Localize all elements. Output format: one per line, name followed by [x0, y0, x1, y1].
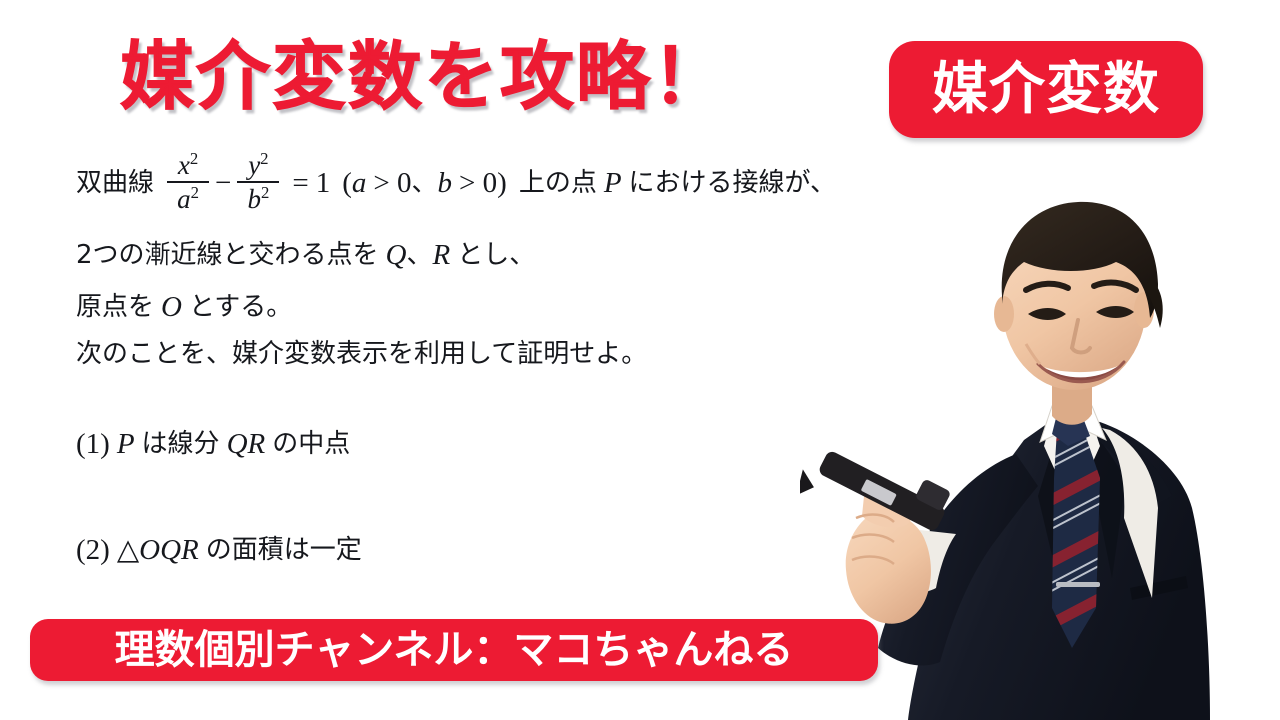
slide-canvas: 媒介変数を攻略！ 媒介変数 双曲線 x2 a2 − y2 b2 = 1	[0, 0, 1280, 720]
problem-line-2: 2つの漸近線と交わる点を Q 、 R とし、	[76, 240, 535, 270]
cond-b-relation: > 0	[459, 168, 497, 198]
problem-line-3: 原点を O とする。	[76, 292, 292, 322]
line2-post: とし、	[457, 242, 535, 269]
point-p: P	[604, 168, 622, 198]
question-1-segment-qr: QR	[227, 429, 266, 459]
exponent: 2	[261, 183, 269, 202]
line2-pre: 2つの漸近線と交わる点を	[76, 242, 379, 269]
channel-banner-label: 理数個別チャンネル：マコちゃんねる	[115, 630, 794, 670]
line3-post: とする。	[189, 294, 292, 321]
line1-tail-pre: 上の点	[519, 170, 597, 197]
cond-paren-open: (	[342, 168, 352, 198]
fraction-y2-b2: y2 b2	[237, 151, 279, 214]
cond-paren-close: )	[497, 168, 507, 198]
cond-a-relation: > 0	[373, 168, 411, 198]
point-q: Q	[386, 240, 407, 270]
question-1-number: (1)	[76, 429, 110, 459]
question-2-triangle-oqr: △OQR	[117, 535, 199, 565]
line2-separator: 、	[407, 242, 433, 269]
question-1-mid: は線分	[142, 431, 220, 458]
channel-banner: 理数個別チャンネル：マコちゃんねる	[30, 619, 878, 681]
fraction-numerator: y2	[245, 151, 271, 179]
minus-operator: −	[215, 168, 231, 198]
topic-badge: 媒介変数	[889, 41, 1203, 138]
cond-variable-b: b	[438, 168, 453, 198]
fraction-denominator: b2	[244, 185, 272, 213]
line1-lead: 双曲線	[76, 170, 154, 197]
question-1: (1) P は線分 QR の中点	[76, 429, 350, 459]
fraction-numerator: x2	[175, 151, 201, 179]
fraction-denominator: a2	[174, 185, 202, 213]
line3-pre: 原点を	[76, 294, 154, 321]
question-2-post: の面積は一定	[206, 537, 362, 564]
question-2: (2) △OQR の面積は一定	[76, 535, 362, 565]
question-2-number: (2)	[76, 535, 110, 565]
value-one: 1	[316, 168, 331, 198]
exponent: 2	[191, 183, 199, 202]
instructor-head	[994, 202, 1163, 390]
exponent: 2	[260, 149, 268, 168]
problem-line-1: 双曲線 x2 a2 − y2 b2 = 1 ( a > 0 、 b	[76, 152, 836, 215]
equals-operator: =	[292, 168, 308, 198]
topic-badge-label: 媒介変数	[932, 62, 1160, 118]
point-o: O	[161, 292, 182, 322]
question-1-post: の中点	[272, 431, 350, 458]
page-title: 媒介変数を攻略！	[120, 40, 728, 114]
fraction-x2-a2: x2 a2	[167, 151, 209, 214]
problem-line-4: 次のことを、媒介変数表示を利用して証明せよ。	[76, 341, 647, 368]
line4-text: 次のことを、媒介変数表示を利用して証明せよ。	[76, 341, 647, 368]
cond-separator: 、	[412, 170, 438, 197]
point-r: R	[433, 240, 451, 270]
cond-variable-a: a	[352, 168, 367, 198]
question-1-point-p: P	[117, 429, 135, 459]
exponent: 2	[190, 149, 198, 168]
